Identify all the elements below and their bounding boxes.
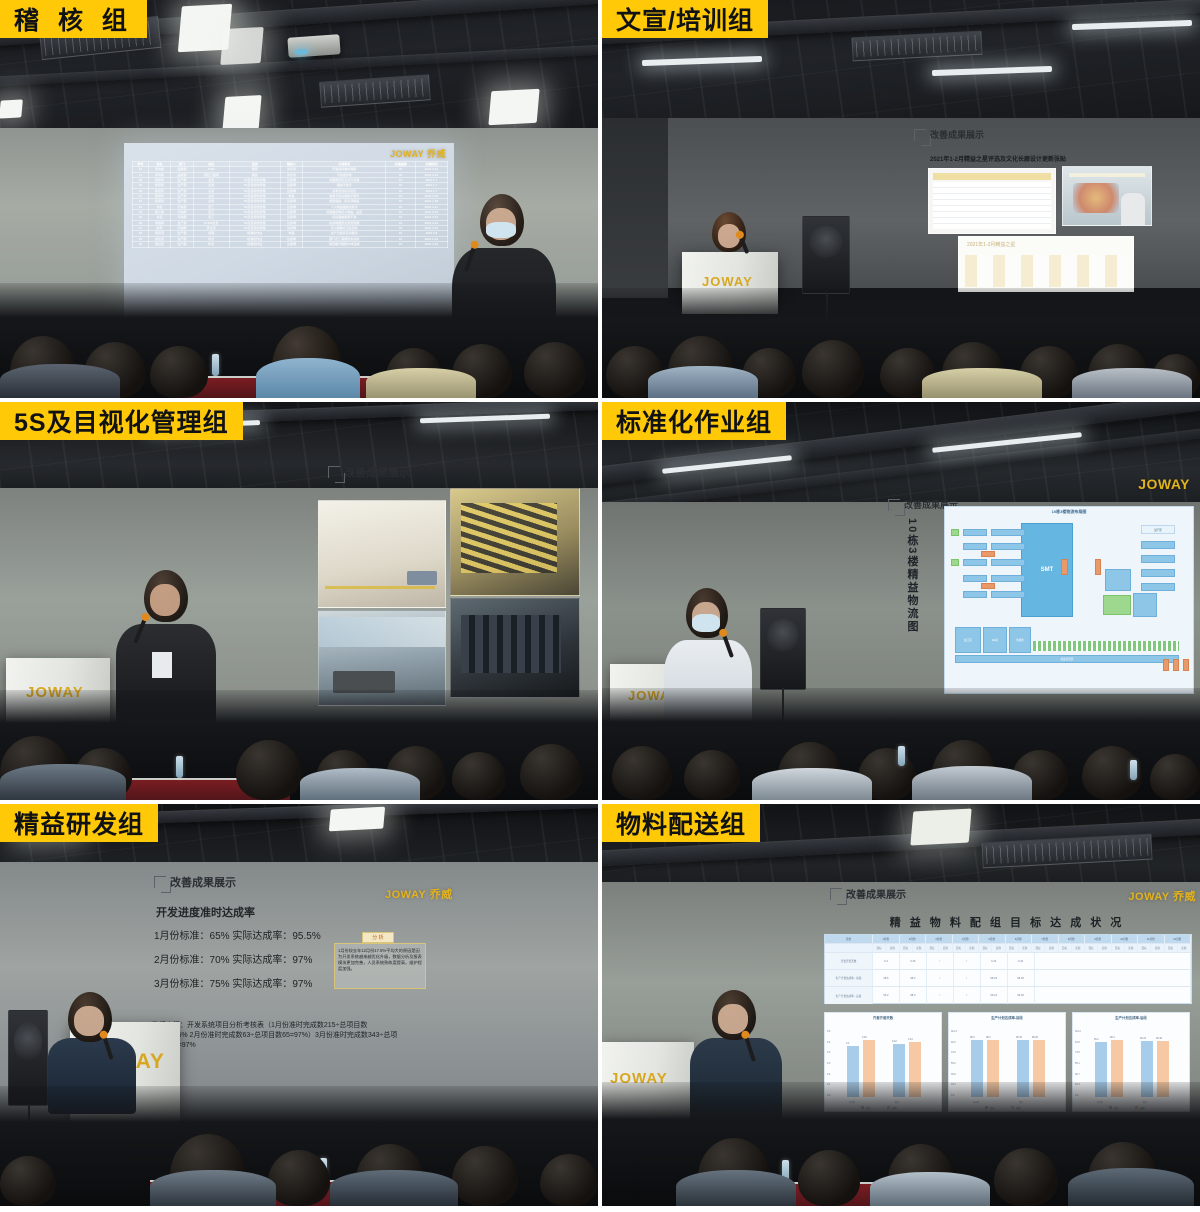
- analysis-callout-body: 1月份较去年12月份17.6%平均大的原因是因为开发系统越来越优化升级，数据分析…: [338, 948, 422, 972]
- audience-area: [0, 1086, 598, 1206]
- photo-grid: JOWAY 乔威 序号 姓名 部门 岗位 组别 稽核人 乐捐事实 乐捐金额 乐捐…: [0, 0, 1200, 1212]
- chart-bar-value: 0.42: [892, 1040, 897, 1043]
- flow-diagram-title: 10栋3楼物流布局图: [945, 509, 1193, 515]
- kpi-line-feb: 2月份标准：70% 实际达成率：97%: [154, 951, 312, 966]
- audience-area: [0, 690, 598, 800]
- table-cell: 标准化作业: [229, 242, 280, 247]
- name-badge: [152, 652, 172, 678]
- wall-pillar: [602, 118, 668, 298]
- audience-shoulders: [150, 1170, 276, 1206]
- flow-block-me-room: ME房: [983, 627, 1007, 653]
- kpi-subheader: 实际: [913, 944, 926, 952]
- table-row: 16黄志超品质部PQE稽查许月清开发资料维护缺陷202021.3.12: [133, 167, 448, 172]
- kpi-cell: /: [954, 970, 981, 986]
- mini-slide-table: [928, 168, 1056, 234]
- chart-y-tick: 73.6: [951, 1051, 956, 1054]
- chart-y-tick: 73.5: [1075, 1051, 1080, 1054]
- slide-header-text: 改善成果展示: [170, 874, 236, 890]
- audience-area: [0, 283, 598, 398]
- panel-publicity-training-group: 改善成果展示 2021年1-2月精益之星评选及文化长廊设计更新张贴 2021年1…: [602, 0, 1200, 398]
- flow-block-small-orange: [1183, 659, 1189, 671]
- kpi-cell: /: [927, 987, 954, 1004]
- chart-y-tick: 0.4: [827, 1041, 830, 1044]
- group-label-publicity-training: 文宣/培训组: [602, 0, 768, 38]
- ceiling-light: [222, 95, 261, 131]
- kpi-cell-empty: [1035, 987, 1192, 1004]
- flow-block-small-orange: [981, 551, 995, 557]
- audience-head: [994, 1148, 1058, 1206]
- projected-slide: 改善成果展示 JOWAY 乔威 开发进度准时达成率 1月份标准：65% 实际达成…: [130, 864, 570, 1114]
- audience-shoulders: [912, 766, 1032, 800]
- flow-block-test-rack: [1133, 593, 1157, 617]
- table-row: 29张红庆生产部科长标准化作业彭贵明部门员工需稽核未完成102021.1.16: [133, 236, 448, 241]
- kpi-cell: 98.4: [900, 987, 927, 1004]
- podium-logo: JOWAY: [702, 274, 753, 289]
- kpi-line-mar: 3月份标准：75% 实际达成率：97%: [154, 975, 312, 990]
- kpi-subheader: 目标: [1138, 944, 1151, 952]
- kpi-cell: 98.43: [981, 970, 1008, 986]
- flow-block-small-orange: [1061, 559, 1068, 575]
- face-mask: [692, 614, 720, 632]
- chart-bar-value: 95.2: [1094, 1038, 1099, 1041]
- kpi-cell-empty: [1035, 970, 1192, 986]
- audience-shoulders: [870, 1172, 990, 1206]
- slide-title: 开发进度准时达成率: [156, 904, 255, 920]
- audience-head: [520, 744, 582, 800]
- chart-y-tick: 36.8: [951, 1073, 956, 1076]
- flow-qa-strip: [1033, 641, 1179, 651]
- projected-slide: 改善成果展示 10栋3楼精益物流图 10栋3楼物流布局图 SMT 试产区: [882, 494, 1200, 714]
- audience-shoulders: [676, 1170, 796, 1206]
- flow-block-power-test: [991, 559, 1025, 566]
- flow-block-power-test: [991, 575, 1025, 582]
- panel-standard-work-group: JOWAY 改善成果展示 10栋3楼精益物流图 10栋3楼物流布局图 SMT 试…: [602, 402, 1200, 800]
- improvement-photo-1: [318, 500, 446, 608]
- slide-title: 精 益 物 料 配 组 目 标 达 成 状 况: [812, 914, 1200, 930]
- flow-block-right: [1141, 541, 1175, 549]
- table-cell: 科长: [193, 242, 229, 247]
- chart-y-tick: 0.5: [827, 1030, 830, 1033]
- kpi-subheader: 目标: [1006, 944, 1019, 952]
- kpi-subheader: 实际: [992, 944, 1005, 952]
- kpi-subheader: 目标: [953, 944, 966, 952]
- panel-material-delivery-group: 改善成果展示 JOWAY 乔威 精 益 物 料 配 组 目 标 达 成 状 况 …: [602, 804, 1200, 1206]
- audience-head: [802, 340, 864, 398]
- table-row: 30张红庆生产部科长标准化作业彭贵明规范推行稽核5S未完成102021.1.16: [133, 242, 448, 247]
- audience-head: [612, 746, 672, 800]
- table-cell: 生产部: [171, 242, 194, 247]
- ceiling-light: [220, 27, 263, 65]
- flow-block-finished-goods: 成品暂置区: [955, 655, 1179, 663]
- kpi-month-header: 12月份: [1165, 935, 1192, 943]
- kpi-cell: /: [927, 970, 954, 986]
- table-row: 20陈旺利生产部主管5S及目视化管理彭贵明没有定位标识定位102021.1.7: [133, 188, 448, 193]
- audit-table-body: 16黄志超品质部PQE稽查许月清开发资料维护缺陷202021.3.1217李鸿彬…: [133, 167, 448, 247]
- panel-lean-rd-group: 改善成果展示 JOWAY 乔威 开发进度准时达成率 1月份标准：65% 实际达成…: [0, 804, 598, 1206]
- chart-title: 生产计划达成率-前段: [949, 1015, 1065, 1020]
- slide-header: 改善成果展示: [914, 128, 984, 141]
- kpi-cell: /: [954, 953, 981, 969]
- kpi-cell: /: [954, 987, 981, 1004]
- audience-shoulders: [1068, 1168, 1194, 1206]
- table-cell: 30: [133, 242, 149, 247]
- ceiling-light: [910, 809, 971, 846]
- kpi-subheader: 实际: [1125, 944, 1138, 952]
- chart-y-tick: 110.2: [1075, 1030, 1081, 1033]
- kpi-subheader: 实际: [1178, 944, 1191, 952]
- audience-head: [540, 1154, 598, 1206]
- table-row: 26李俊辉生产部B-401拉长5S及目视化管理彭贵明拉线地面安全定置管理1020…: [133, 220, 448, 225]
- audience-head: [0, 1156, 56, 1206]
- bracket-icon: [830, 888, 842, 900]
- projected-slide: 改善成果展示: [300, 448, 598, 698]
- group-label-material-delivery: 物料配送组: [602, 804, 760, 842]
- table-row: 17李鸿彬品质部项目工程师稽查许月清不会报异常102021.3.22: [133, 172, 448, 177]
- kpi-subheader: 目标: [1032, 944, 1045, 952]
- audience-shoulders: [0, 364, 120, 398]
- chart-title: 齐套齐套天数: [825, 1015, 941, 1020]
- audience-shoulders: [300, 768, 420, 800]
- poster-title: 2021年1-2月精益之星: [967, 241, 1015, 248]
- kpi-cell: 0.43: [1008, 953, 1035, 969]
- slide-header: 改善成果展示: [328, 464, 410, 480]
- kpi-table-row: 生产计划达成率 - 后段 95.2 98.4 / / 96.24 96.18: [825, 987, 1191, 1004]
- group-label-lean-rd: 精益研发组: [0, 804, 158, 842]
- slide-caption: 2021年1-2月精益之星评选及文化长廊设计更新张贴: [930, 154, 1066, 163]
- audience-shoulders: [648, 366, 758, 398]
- kpi-month-header: 5月份: [979, 935, 1006, 943]
- source-note: 数据来源：开发系统项目分析考核表（1月份准时完成数215÷总项目数225=95.…: [152, 1021, 402, 1050]
- audience-shoulders: [1072, 368, 1192, 398]
- chart-y-tick: 36.7: [1075, 1073, 1080, 1076]
- kpi-month-header: 8月份: [1059, 935, 1086, 943]
- panel-audit-group: JOWAY 乔威 序号 姓名 部门 岗位 组别 稽核人 乐捐事实 乐捐金额 乐捐…: [0, 0, 598, 398]
- slide-header-text: 改善成果展示: [344, 464, 410, 480]
- analysis-callout-tab: 分 析: [362, 932, 394, 943]
- projector: [287, 34, 340, 58]
- table-row: 23许宣行政部员工5S及目视化管理彭贵明个人物品摆放位标示102021.1.21: [133, 204, 448, 209]
- kpi-subheader: 实际: [886, 944, 899, 952]
- bracket-icon: [328, 466, 340, 478]
- kpi-subheader: 实际: [1072, 944, 1085, 952]
- bracket-icon: [154, 876, 166, 888]
- slide-header: 改善成果展示: [830, 886, 906, 901]
- kpi-subheader: 目标: [900, 944, 913, 952]
- flow-block-power-test: [991, 591, 1025, 598]
- kpi-subheader: 目标: [926, 944, 939, 952]
- kpi-cell: 98.2: [900, 970, 927, 986]
- flow-block-small-orange: [1173, 659, 1179, 671]
- flow-block-power-test: [991, 543, 1025, 550]
- flow-block-trial: 试产区: [1141, 525, 1175, 534]
- improvement-photo-4: [450, 598, 580, 698]
- flow-block-load-test: [963, 575, 987, 582]
- flow-block-right: [1141, 583, 1175, 591]
- chart-bar-value: 0.45: [862, 1036, 867, 1039]
- kpi-subheader: 目标: [1085, 944, 1098, 952]
- chart-y-tick: 92.0: [951, 1041, 956, 1044]
- kpi-table-row: 齐套齐套天数 0.4 0.45 / / 0.42 0.43: [825, 953, 1191, 970]
- pa-speaker: [802, 216, 850, 294]
- audience-shoulders: [366, 368, 476, 398]
- kpi-table-corner-sub: [825, 944, 873, 952]
- table-cell: 10: [386, 242, 415, 247]
- mini-slide-poster: 2021年1-2月精益之星: [958, 236, 1134, 292]
- kpi-table-subheader-row: 目标实际目标实际目标实际目标实际目标实际目标实际目标实际目标实际目标实际目标实际…: [825, 944, 1191, 953]
- flow-diagram: 10栋3楼物流布局图 SMT 试产区: [944, 506, 1194, 694]
- speaker-person: [698, 212, 768, 260]
- flow-block-small-green: [951, 529, 959, 536]
- speaker-face: [150, 584, 180, 616]
- kpi-month-header: 6月份: [1006, 935, 1033, 943]
- kpi-subheader: 实际: [939, 944, 952, 952]
- flow-block-office: [1103, 595, 1131, 615]
- joway-logo: JOWAY 乔威: [390, 147, 446, 160]
- kpi-subheader: 实际: [966, 944, 979, 952]
- kpi-month-header: 3月份: [926, 935, 953, 943]
- audience-head: [452, 1146, 518, 1206]
- group-label-standard-work: 标准化作业组: [602, 402, 786, 440]
- audience-head: [150, 346, 208, 398]
- chart-bar-value: 98.6: [970, 1036, 975, 1039]
- chart-bar-value: 98.06: [1032, 1036, 1038, 1039]
- kpi-month-header: 11月份: [1138, 935, 1165, 943]
- kpi-row-label: 生产计划达成率 - 后段: [825, 987, 873, 1004]
- kpi-subheader: 实际: [1019, 944, 1032, 952]
- kpi-line-jan: 1月份标准：65% 实际达成率：95.5%: [154, 927, 321, 942]
- kpi-cell: 96.18: [1008, 987, 1035, 1004]
- flow-block-small-green: [951, 559, 959, 566]
- table-row: 22陈旺利生产部主管5S及目视化管理彭贵明纸皮摆放，标识清晰度102021.1.…: [133, 199, 448, 204]
- kpi-month-header: 9月份: [1085, 935, 1112, 943]
- chart-bar-value: 98.43: [1016, 1036, 1022, 1039]
- audience-area: [602, 288, 1200, 398]
- chart-y-tick: 0.3: [827, 1051, 830, 1054]
- audience-head: [268, 1150, 330, 1206]
- kpi-cell: 98.6: [873, 970, 900, 986]
- kpi-cell: 0.42: [981, 953, 1008, 969]
- audience-area: [602, 688, 1200, 800]
- table-row: 28周双河生产部经理标准化作业朱磊生产日报表及对账表102021.1.8: [133, 231, 448, 236]
- audience-shoulders: [330, 1170, 458, 1206]
- improvement-photo-2: [450, 488, 580, 596]
- audience-area: [602, 1082, 1200, 1206]
- joway-logo: JOWAY 乔威: [1128, 888, 1196, 904]
- chart-y-tick: 55.1: [1075, 1062, 1080, 1065]
- pa-speaker: [760, 608, 806, 690]
- kpi-table: 月份1月份2月份3月份4月份5月份6月份7月份8月份9月份10月份11月份12月…: [824, 934, 1192, 1004]
- kpi-cell: 0.45: [900, 953, 927, 969]
- joway-logo: JOWAY 乔威: [385, 886, 453, 902]
- chart-y-tick: 55.2: [951, 1062, 956, 1065]
- kpi-month-header: 1月份: [873, 935, 900, 943]
- kpi-row-label: 齐套齐套天数: [825, 953, 873, 969]
- flow-block-small-orange: [1163, 659, 1169, 671]
- audience-shoulders: [0, 764, 126, 800]
- audience-head: [684, 750, 740, 800]
- kpi-subheader: 目标: [873, 944, 886, 952]
- chart-y-tick: 110.4: [951, 1030, 957, 1033]
- kpi-subheader: 目标: [1059, 944, 1072, 952]
- chart-y-tick: 0.2: [827, 1073, 830, 1076]
- audience-head: [452, 752, 506, 800]
- joway-wall-logo: JOWAY: [1138, 476, 1190, 492]
- bracket-icon: [888, 499, 900, 511]
- water-bottle: [898, 746, 905, 766]
- chart-title: 生产计划达成率-后段: [1073, 1015, 1189, 1020]
- kpi-subheader: 实际: [1098, 944, 1111, 952]
- panel-5s-visual-group: 改善成果展示 JOWAY: [0, 402, 598, 800]
- kpi-subheader: 实际: [1151, 944, 1164, 952]
- audience-shoulders: [922, 368, 1042, 398]
- chart-bar-value: 0.4: [846, 1042, 849, 1045]
- kpi-subheader: 目标: [1112, 944, 1125, 952]
- kpi-cell: 98.06: [1008, 970, 1035, 986]
- flow-block-meeting-room: 沟通室: [1009, 627, 1031, 653]
- flow-block-load-test: [963, 591, 987, 598]
- slide-header-text: 改善成果展示: [846, 886, 906, 901]
- water-bottle: [176, 756, 183, 778]
- audience-head: [798, 1150, 860, 1206]
- kpi-table-row: 生产计划达成率 - 前段 98.6 98.2 / / 98.43 98.06: [825, 970, 1191, 987]
- kpi-table-corner: 月份: [825, 935, 873, 943]
- flow-block-processing: 加工区: [955, 627, 981, 653]
- mini-slide-photo: [1062, 166, 1152, 226]
- flow-block-load-test: [963, 559, 987, 566]
- flow-block-right: [1141, 569, 1175, 577]
- water-bottle: [1130, 760, 1137, 780]
- chart-y-tick: 0.3: [827, 1062, 830, 1065]
- kpi-month-header: 7月份: [1032, 935, 1059, 943]
- flow-block-load-test: [963, 529, 987, 536]
- face-mask: [486, 222, 516, 238]
- kpi-month-header: 10月份: [1112, 935, 1139, 943]
- flow-block-load-test: [963, 543, 987, 550]
- audit-table: 序号 姓名 部门 岗位 组别 稽核人 乐捐事实 乐捐金额 乐捐时间 16黄志超品…: [132, 161, 448, 248]
- table-cell: 彭贵明: [280, 242, 303, 247]
- chart-bar-value: 96.18: [1156, 1037, 1162, 1040]
- table-cell: 张红庆: [148, 242, 171, 247]
- projected-slide: 改善成果展示 JOWAY 乔威 精 益 物 料 配 组 目 标 达 成 状 况 …: [812, 880, 1200, 1116]
- flow-block-material-room: [1105, 569, 1131, 591]
- kpi-cell: 96.24: [981, 987, 1008, 1004]
- kpi-month-header: 2月份: [900, 935, 927, 943]
- flow-block-power-test: [991, 529, 1025, 536]
- projected-slide: 改善成果展示 2021年1-2月精益之星评选及文化长廊设计更新张贴 2021年1…: [902, 122, 1200, 292]
- kpi-cell: 95.2: [873, 987, 900, 1004]
- chart-y-tick: 91.8: [1075, 1041, 1080, 1044]
- flow-block-small-orange: [981, 583, 995, 589]
- chart-bar-value: 96.24: [1140, 1037, 1146, 1040]
- kpi-month-header: 4月份: [953, 935, 980, 943]
- slide-header: 改善成果展示: [154, 874, 236, 890]
- slide-header-text: 改善成果展示: [930, 128, 984, 141]
- audience-shoulders: [256, 358, 360, 398]
- kpi-table-month-row: 月份1月份2月份3月份4月份5月份6月份7月份8月份9月份10月份11月份12月…: [825, 935, 1191, 944]
- chart-bar-value: 98.2: [986, 1036, 991, 1039]
- kpi-subheader: 实际: [1045, 944, 1058, 952]
- kpi-row-label: 生产计划达成率 - 前段: [825, 970, 873, 986]
- table-row: 19陈旺利生产部主管5S及目视化管理彭贵明摆放不整齐102021.1.7: [133, 183, 448, 188]
- flow-block-right: [1141, 555, 1175, 563]
- table-row: 25许宣行政部员工5S及目视化管理彭贵明标识摆放整顿干净102021.3.24: [133, 215, 448, 220]
- speaker-face: [718, 1004, 748, 1034]
- table-cell: 规范推行稽核5S未完成: [303, 242, 386, 247]
- group-label-5s-visual: 5S及目视化管理组: [0, 402, 243, 440]
- water-bottle: [212, 354, 219, 376]
- bracket-icon: [914, 129, 926, 141]
- ceiling-light: [488, 89, 539, 125]
- ceiling-light: [0, 99, 23, 118]
- audience-head: [1150, 754, 1200, 800]
- audience-shoulders: [752, 768, 872, 800]
- kpi-cell: /: [927, 953, 954, 969]
- kpi-subheader: 目标: [1165, 944, 1178, 952]
- flow-block-small-orange: [1095, 559, 1101, 575]
- group-label-audit: 稽 核 组: [0, 0, 147, 38]
- audience-head: [236, 740, 302, 800]
- kpi-cell: 0.4: [873, 953, 900, 969]
- slide-side-title: 10栋3楼精益物流图: [904, 518, 920, 633]
- ceiling-light: [329, 807, 385, 832]
- chart-bar-value: 0.43: [908, 1038, 913, 1041]
- kpi-subheader: 目标: [979, 944, 992, 952]
- kpi-cell-empty: [1035, 953, 1192, 969]
- chart-bar-value: 98.4: [1110, 1036, 1115, 1039]
- audience-head: [524, 342, 586, 398]
